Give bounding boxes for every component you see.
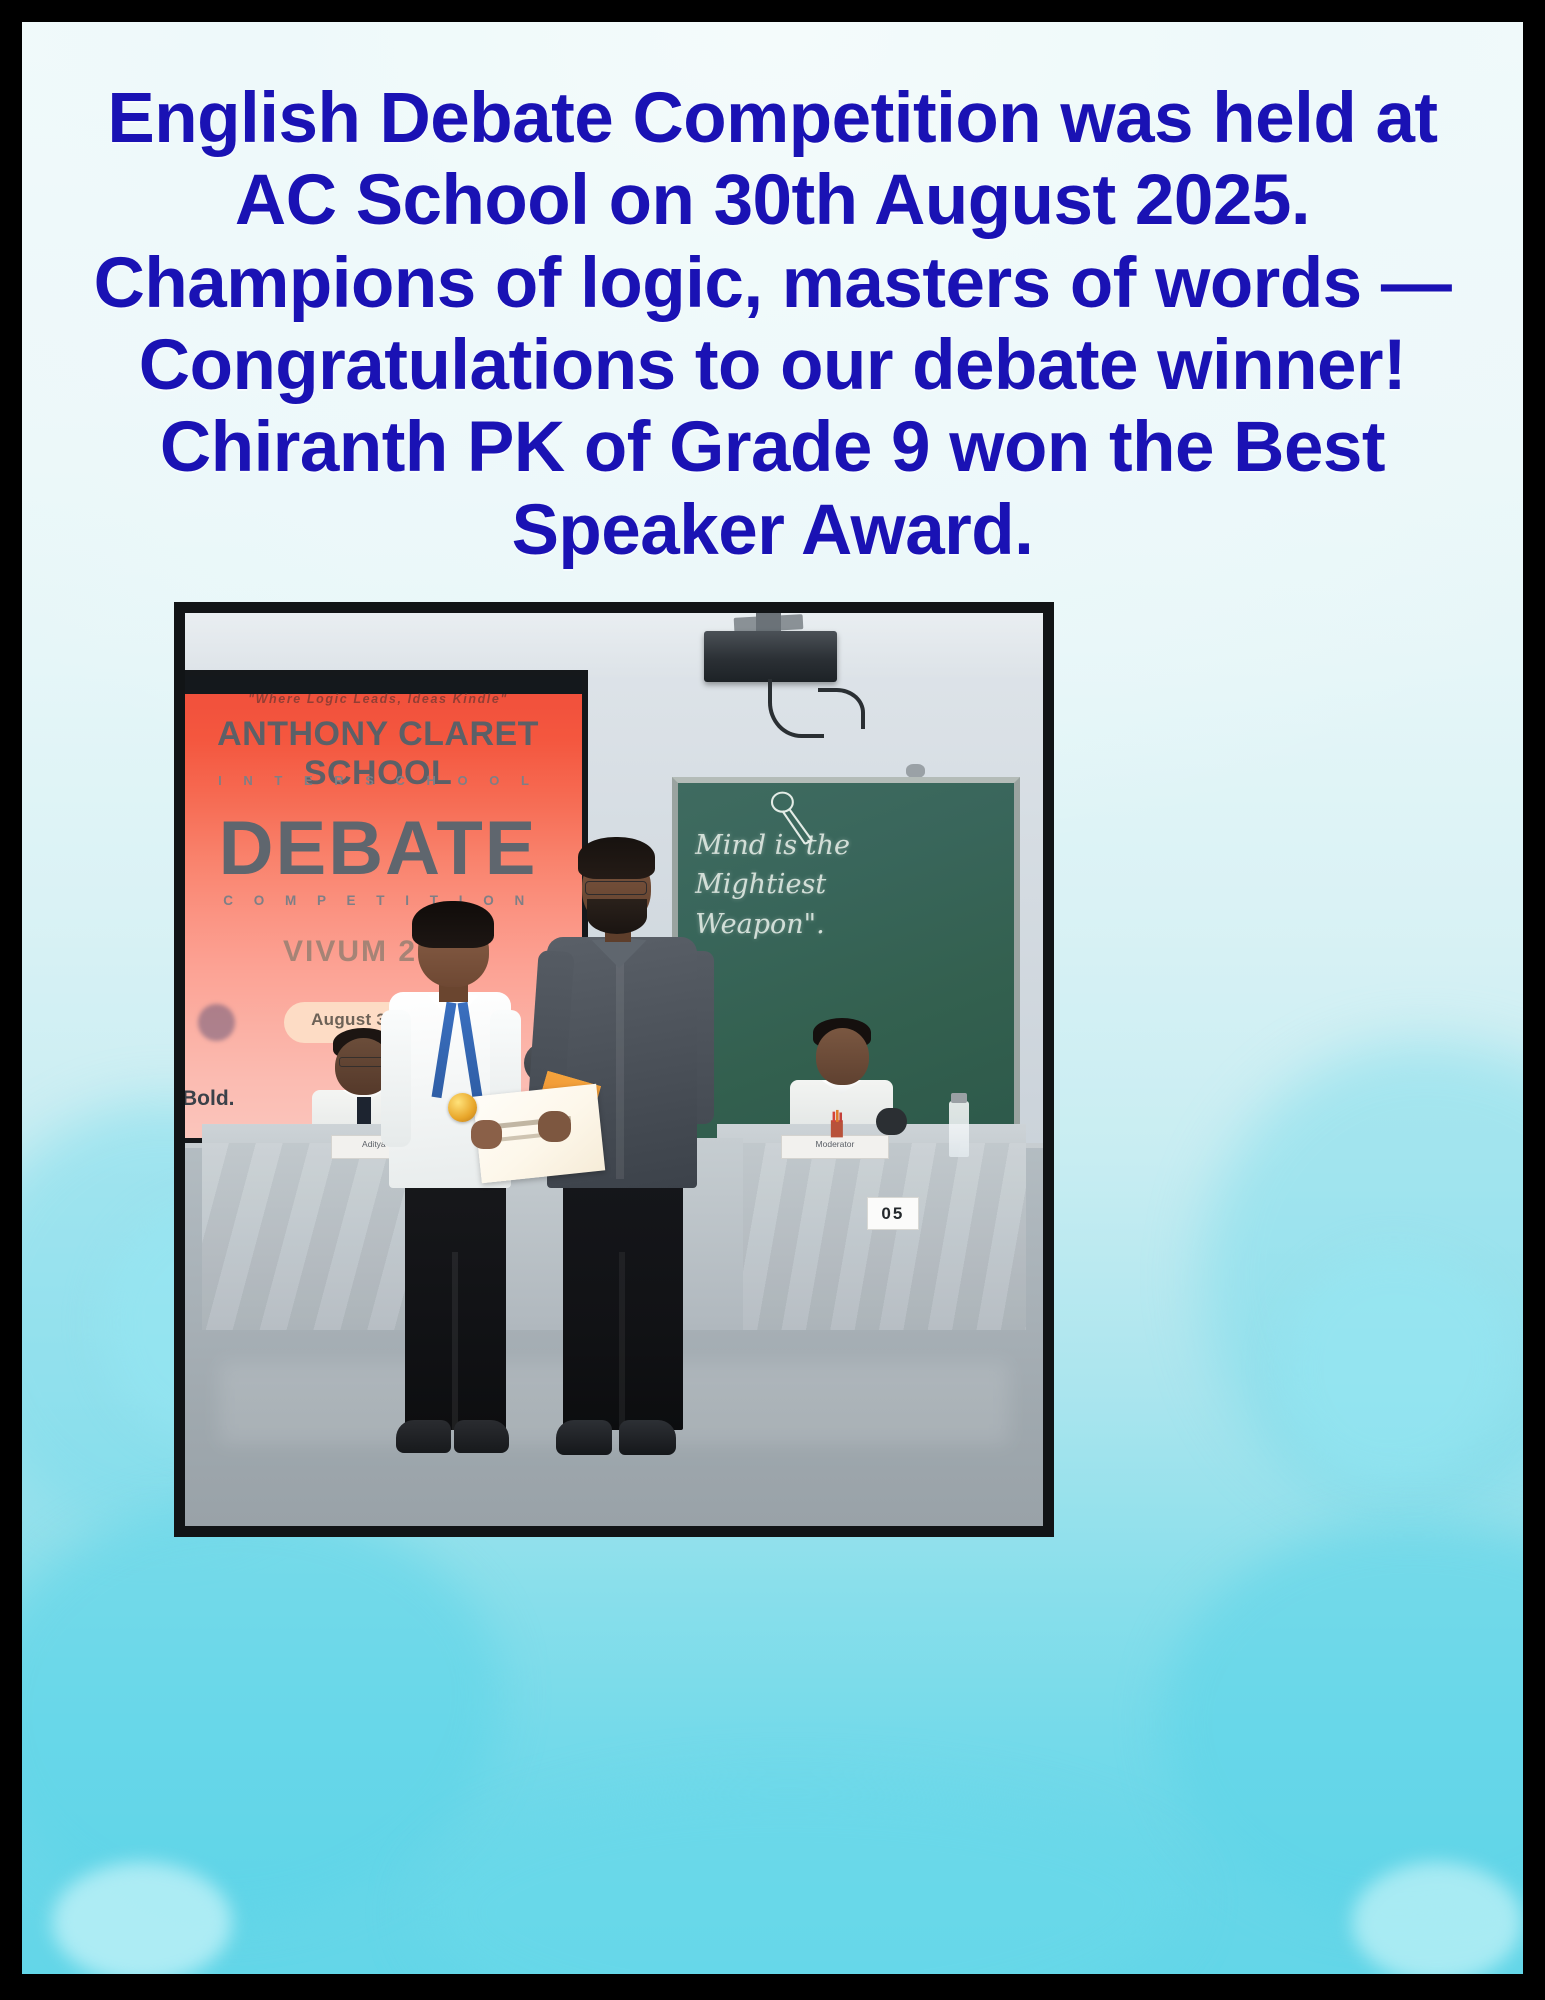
- student-shoe: [454, 1420, 509, 1453]
- teacher-shoe: [619, 1420, 676, 1455]
- headline-line: Congratulations to our debate winner!: [66, 325, 1479, 407]
- hair: [412, 901, 494, 948]
- teacher-shoe: [556, 1420, 613, 1455]
- headline-line: English Debate Competition was held at: [66, 78, 1479, 160]
- table-microphone-icon: [876, 1108, 907, 1135]
- leg-seam: [619, 1252, 625, 1430]
- student-hand: [471, 1120, 502, 1149]
- headline-line: Speaker Award.: [66, 490, 1479, 572]
- watercolor-speck: [1352, 1862, 1522, 1974]
- banner-footer-text: Bold.: [185, 1087, 288, 1119]
- chalk-line: Weapon".: [695, 905, 850, 944]
- poster-canvas: English Debate Competition was held at A…: [22, 22, 1523, 1974]
- leg-seam: [452, 1252, 458, 1430]
- hair: [578, 837, 655, 879]
- poster-root: English Debate Competition was held at A…: [0, 0, 1545, 2000]
- number-card: 05: [867, 1197, 918, 1230]
- headline-line: AC School on 30th August 2025.: [66, 160, 1479, 242]
- watercolor-blot: [1282, 1252, 1512, 1482]
- watercolor-blot: [422, 1782, 1182, 1974]
- glasses-icon: [585, 881, 647, 895]
- banner-logo: [198, 1004, 235, 1041]
- watercolor-blot: [22, 1502, 502, 1922]
- page-title: English Debate Competition was held at A…: [22, 22, 1523, 572]
- banner-interschool-label: I N T E R S C H O O L: [185, 773, 582, 788]
- banner-tagline: "Where Logic Leads, Ideas Kindle": [185, 692, 582, 706]
- medal-icon: [448, 1093, 477, 1122]
- student-arm: [381, 1010, 412, 1147]
- smoke-detector-icon: [906, 764, 925, 779]
- shirt-placket: [616, 942, 625, 1179]
- headline-line: Chiranth PK of Grade 9 won the Best: [66, 407, 1479, 489]
- water-bottle-icon: [949, 1101, 970, 1158]
- chalk-line: Mightiest: [695, 865, 850, 904]
- photo-frame: Mind is the Mightiest Weapon". "Where Lo…: [174, 602, 1054, 1537]
- banner-competition-label: C O M P E T I T I O N: [185, 893, 582, 908]
- seated-student-right-head: [816, 1028, 869, 1085]
- projector-icon: [704, 631, 837, 682]
- bottle-cap: [951, 1093, 966, 1103]
- teacher-hand: [538, 1111, 571, 1142]
- watercolor-blot: [1202, 1042, 1523, 1512]
- pen-holder-icon: [824, 1109, 850, 1140]
- ceiling: [185, 613, 1043, 677]
- watercolor-speck: [52, 1862, 232, 1974]
- watercolor-blot: [1162, 1522, 1523, 1922]
- table-skirt: [717, 1143, 1026, 1330]
- event-photograph: Mind is the Mightiest Weapon". "Where Lo…: [185, 613, 1043, 1526]
- headline-line: Champions of logic, masters of words —: [66, 243, 1479, 325]
- banner-debate-title: DEBATE: [185, 805, 582, 892]
- student-shoe: [396, 1420, 451, 1453]
- chalk-text: Mind is the Mightiest Weapon".: [695, 826, 850, 943]
- chalk-line: Mind is the: [695, 826, 850, 865]
- beard: [587, 899, 647, 935]
- banner-edition: VIVUM 2025: [185, 935, 582, 969]
